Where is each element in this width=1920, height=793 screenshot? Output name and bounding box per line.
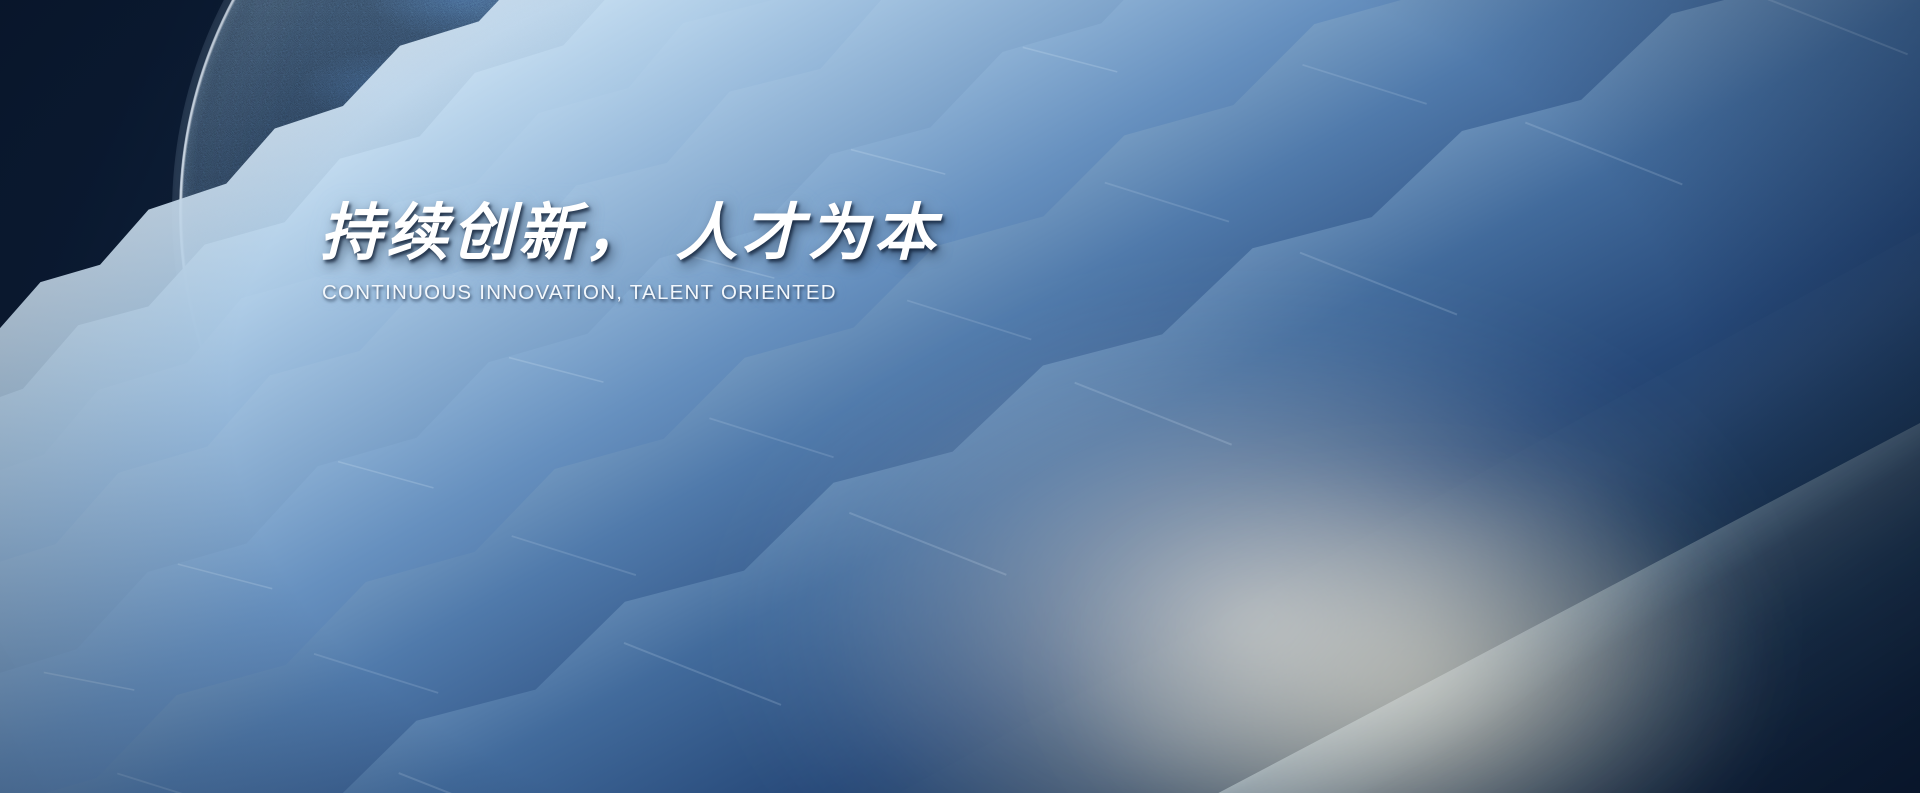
planet-atmosphere-rim	[179, 0, 1085, 665]
hero-banner: 持续创新， 人才为本 CONTINUOUS INNOVATION, TALENT…	[0, 0, 1920, 793]
banner-headline: 持续创新， 人才为本	[320, 198, 1080, 267]
moon	[92, 546, 178, 632]
banner-text-block: 持续创新， 人才为本 CONTINUOUS INNOVATION, TALENT…	[320, 198, 1080, 305]
banner-subheadline: CONTINUOUS INNOVATION, TALENT ORIENTED	[322, 281, 1080, 305]
moon-rim-light	[92, 546, 178, 632]
planet	[182, 0, 1082, 662]
